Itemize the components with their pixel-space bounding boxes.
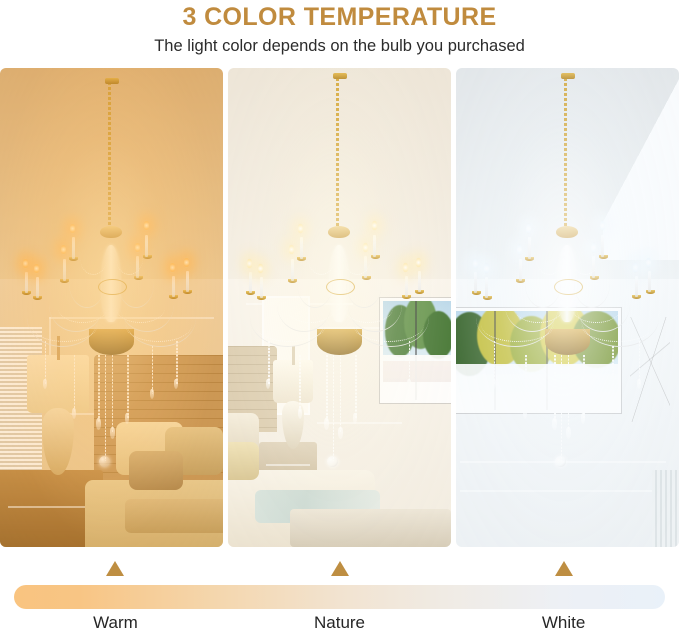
crystal-drop (380, 389, 384, 399)
crystal-drop (492, 379, 496, 389)
chandelier-bowl (545, 329, 590, 355)
crystal-drop (581, 413, 585, 424)
photo-panel-nature (228, 68, 451, 547)
crystal-drop (353, 413, 357, 424)
crystal-strand (45, 341, 47, 384)
candle-flame (23, 258, 28, 269)
scale-marker-white (555, 561, 573, 576)
candle-flame (372, 220, 377, 231)
crystal-swag (58, 293, 107, 323)
chandelier (228, 68, 451, 547)
chandelier-crown (100, 226, 122, 238)
crystal-swag (572, 293, 621, 323)
crystal-strand (74, 355, 76, 412)
crystal-strand (612, 346, 614, 394)
chandelier-canopy (105, 78, 119, 84)
candle (249, 272, 252, 293)
candle-flame (247, 258, 252, 269)
crystal-drop (72, 408, 76, 419)
chandelier-chain (564, 78, 567, 231)
crystal-drop (610, 389, 614, 399)
chandelier (456, 68, 679, 547)
candle-flame (170, 262, 175, 273)
crystal-strand (583, 355, 585, 417)
crystal-strand (152, 346, 154, 394)
candle (373, 235, 376, 257)
candle-flame (416, 257, 421, 268)
crystal-swag (344, 293, 393, 323)
candle-flame (484, 263, 489, 274)
chandelier-crown (556, 226, 578, 238)
crystal-pendant-ball (327, 456, 338, 467)
crystal-drop (174, 379, 178, 389)
candle (519, 259, 522, 281)
candle (72, 237, 75, 259)
candle-flame (258, 263, 263, 274)
candle (418, 271, 421, 292)
crystal-swag (116, 240, 143, 275)
crystal-drop (298, 408, 302, 419)
crystal-drop (552, 418, 557, 430)
candle (474, 272, 477, 293)
crystal-drop (266, 379, 270, 389)
candle (260, 277, 263, 298)
chandelier-bowl (89, 329, 134, 355)
crystal-strand (409, 341, 411, 384)
crystal-drop (324, 418, 329, 430)
candle (405, 276, 408, 297)
candle (172, 276, 175, 297)
candle (291, 259, 294, 281)
candle (485, 277, 488, 298)
candle (186, 271, 189, 292)
candle-flame (34, 263, 39, 274)
candle (648, 271, 651, 292)
candle-flame (289, 244, 294, 255)
crystal-drop (566, 427, 571, 439)
chandelier-bowl (317, 329, 362, 355)
crystal-strand (639, 341, 641, 384)
crystal-swag (572, 240, 599, 275)
crystal-drop (43, 379, 47, 389)
candle-flame (600, 220, 605, 231)
crystal-strand (98, 355, 100, 422)
crystal-drop (150, 389, 154, 399)
crystal-strand (382, 346, 384, 394)
crystal-strand (299, 355, 301, 412)
scale-marker-nature (331, 561, 349, 576)
candle (528, 237, 531, 259)
candle (63, 259, 66, 281)
candle-flame (298, 223, 303, 234)
temperature-gradient-bar (14, 585, 665, 609)
candle-flame (633, 262, 638, 273)
color-temperature-panels (0, 68, 679, 547)
crystal-drop (338, 427, 343, 439)
crystal-strand (176, 341, 178, 384)
crystal-strand (355, 355, 357, 417)
candle-flame (61, 244, 66, 255)
candle-flame (526, 223, 531, 234)
crystal-drop (96, 418, 101, 430)
candle-flame (473, 258, 478, 269)
photo-panel-warm (0, 68, 223, 547)
crystal-strand (494, 341, 496, 384)
scale-markers (0, 561, 679, 579)
crystal-drop (637, 379, 641, 389)
crystal-swag (514, 293, 563, 323)
crystal-drop (125, 413, 129, 424)
crystal-swag (308, 240, 335, 275)
candle-flame (184, 257, 189, 268)
candle-flame (403, 262, 408, 273)
photo-panel-white (456, 68, 679, 547)
crystal-strand (561, 355, 563, 460)
header: 3 COLOR TEMPERATURE The light color depe… (0, 0, 679, 62)
scale-label-warm: Warm (93, 613, 138, 633)
chandelier-crown (328, 226, 350, 238)
crystal-swag (286, 293, 335, 323)
chandelier-canopy (561, 73, 575, 79)
crystal-strand (525, 355, 527, 412)
candle-flame (646, 257, 651, 268)
crystal-swag (116, 293, 165, 323)
crystal-strand (554, 355, 556, 422)
scale-labels: Warm Nature White (0, 613, 679, 637)
crystal-strand (127, 355, 129, 417)
scale-label-nature: Nature (314, 613, 365, 633)
scale-marker-warm (106, 561, 124, 576)
scale-label-white: White (542, 613, 585, 633)
crystal-swag (80, 240, 107, 275)
crystal-strand (326, 355, 328, 422)
candle-flame (144, 220, 149, 231)
candle (300, 237, 303, 259)
color-temperature-scale: Warm Nature White (0, 547, 679, 637)
crystal-drop (523, 408, 527, 419)
candle-flame (517, 244, 522, 255)
candle (25, 272, 28, 293)
candle-flame (70, 223, 75, 234)
crystal-swag (344, 240, 371, 275)
crystal-drop (110, 427, 115, 439)
page-subtitle: The light color depends on the bulb you … (0, 31, 679, 56)
candle (36, 277, 39, 298)
crystal-strand (340, 355, 342, 432)
crystal-strand (268, 341, 270, 384)
candle (601, 235, 604, 257)
crystal-swag (536, 240, 563, 275)
crystal-pendant-ball (555, 456, 566, 467)
chandelier-chain (336, 78, 339, 231)
crystal-drop (407, 379, 411, 389)
chandelier (0, 68, 223, 547)
chandelier-canopy (333, 73, 347, 79)
crystal-strand (333, 355, 335, 460)
candle (635, 276, 638, 297)
candle (145, 235, 148, 257)
crystal-pendant-ball (99, 456, 110, 467)
crystal-strand (112, 355, 114, 432)
crystal-strand (105, 355, 107, 460)
crystal-strand (568, 355, 570, 432)
page-title: 3 COLOR TEMPERATURE (0, 0, 679, 31)
chandelier-chain (108, 82, 111, 230)
